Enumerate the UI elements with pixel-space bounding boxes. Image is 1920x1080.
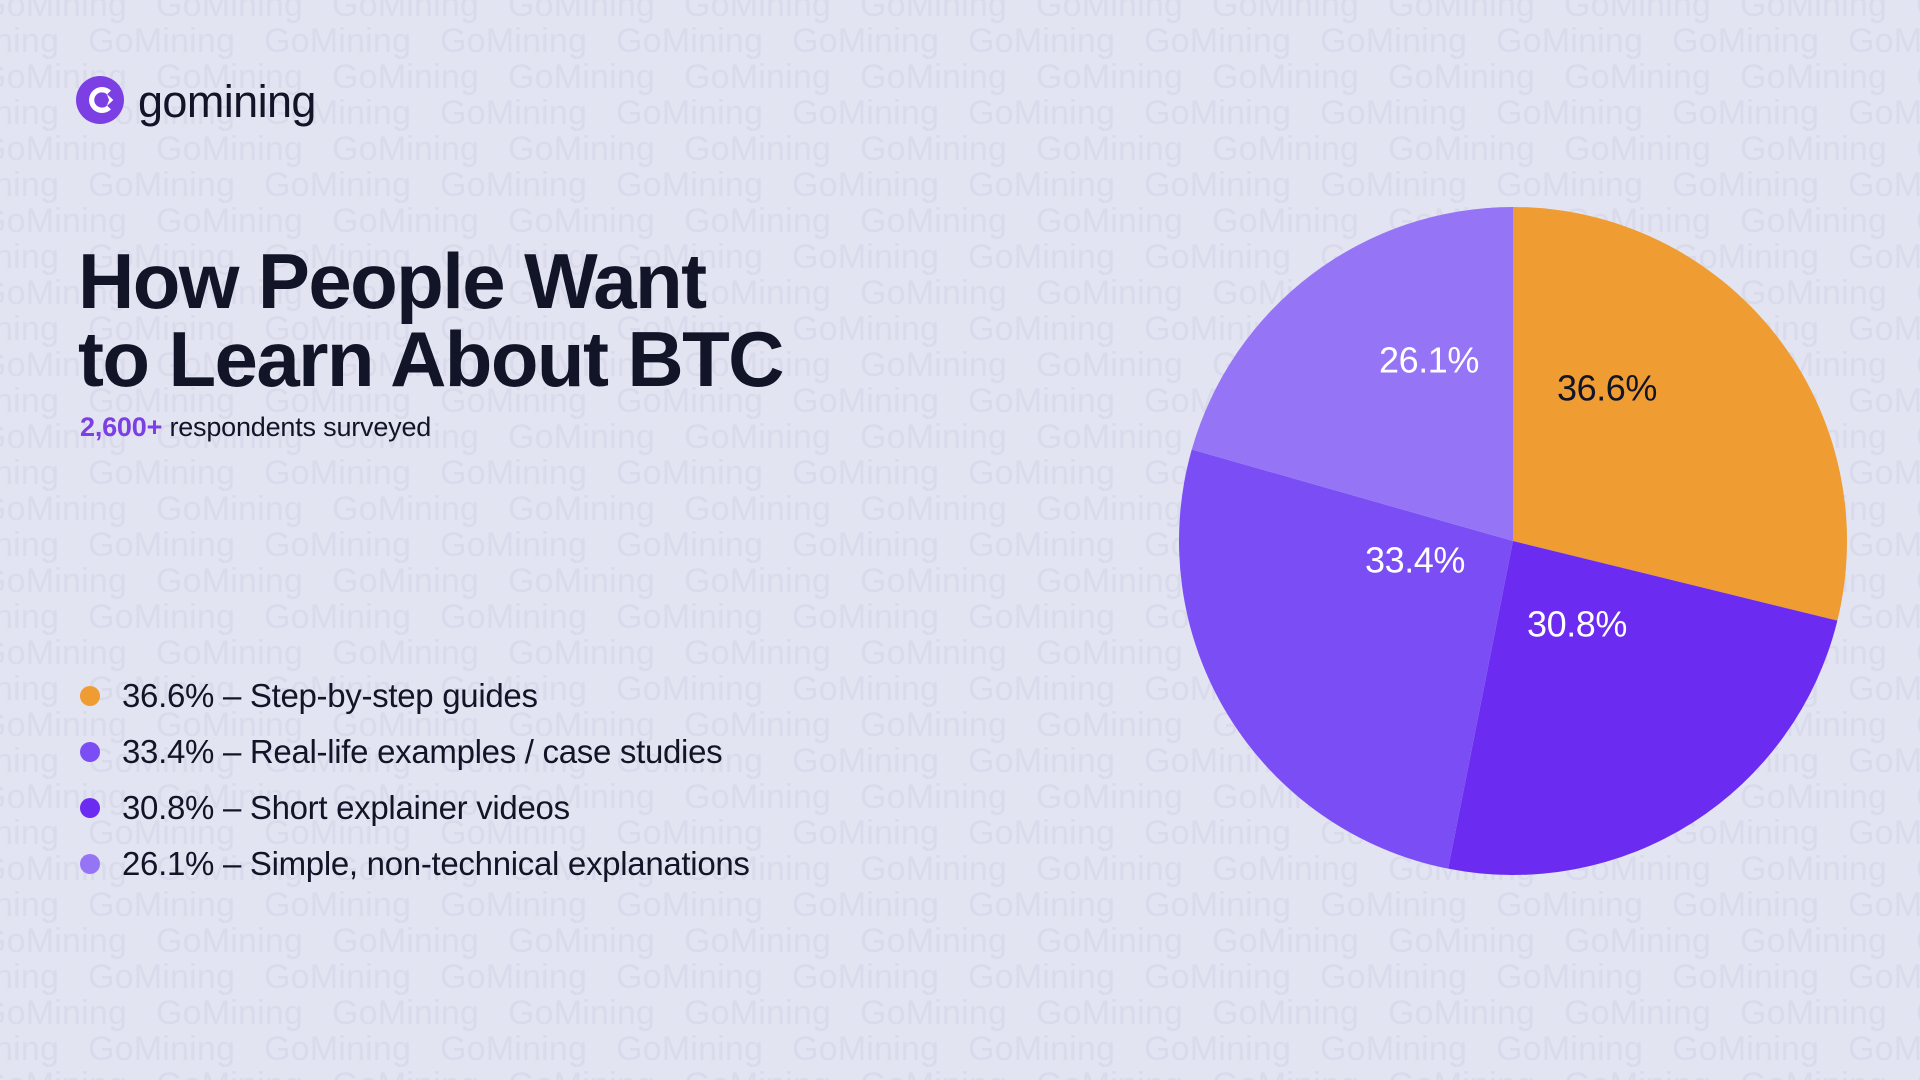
pie-chart: 36.6%30.8%33.4%26.1%: [1179, 207, 1847, 875]
page-title-line-2: to Learn About BTC: [78, 320, 1058, 398]
legend-item: 36.6% – Step-by-step guides: [80, 668, 1080, 724]
legend-item: 26.1% – Simple, non-technical explanatio…: [80, 836, 1080, 892]
legend-item: 30.8% – Short explainer videos: [80, 780, 1080, 836]
page-title: How People Want to Learn About BTC: [78, 242, 1058, 398]
gomining-logo-icon: [76, 76, 124, 124]
infographic-page: gomining How People Want to Learn About …: [0, 0, 1920, 1080]
subtitle: 2,600+ respondents surveyed: [80, 412, 431, 443]
legend-item-label: 33.4% – Real-life examples / case studie…: [122, 733, 722, 771]
pie-slice-label: 26.1%: [1379, 340, 1479, 381]
pie-slice-label: 30.8%: [1527, 604, 1627, 645]
pie-slices: [1179, 207, 1847, 875]
brand-logo: gomining: [76, 76, 316, 124]
legend-color-dot: [80, 798, 100, 818]
legend-item-label: 26.1% – Simple, non-technical explanatio…: [122, 845, 750, 883]
legend-color-dot: [80, 854, 100, 874]
legend-list: 36.6% – Step-by-step guides33.4% – Real-…: [80, 668, 1080, 892]
legend-color-dot: [80, 742, 100, 762]
legend-color-dot: [80, 686, 100, 706]
respondent-count: 2,600+: [80, 412, 162, 442]
legend-item-label: 30.8% – Short explainer videos: [122, 789, 570, 827]
pie-slice-label: 33.4%: [1365, 540, 1465, 581]
legend-item-label: 36.6% – Step-by-step guides: [122, 677, 538, 715]
page-title-line-1: How People Want: [78, 242, 1058, 320]
pie-slice-label: 36.6%: [1557, 368, 1657, 409]
brand-wordmark: gomining: [138, 79, 316, 124]
subtitle-text: respondents surveyed: [162, 412, 431, 442]
legend-item: 33.4% – Real-life examples / case studie…: [80, 724, 1080, 780]
